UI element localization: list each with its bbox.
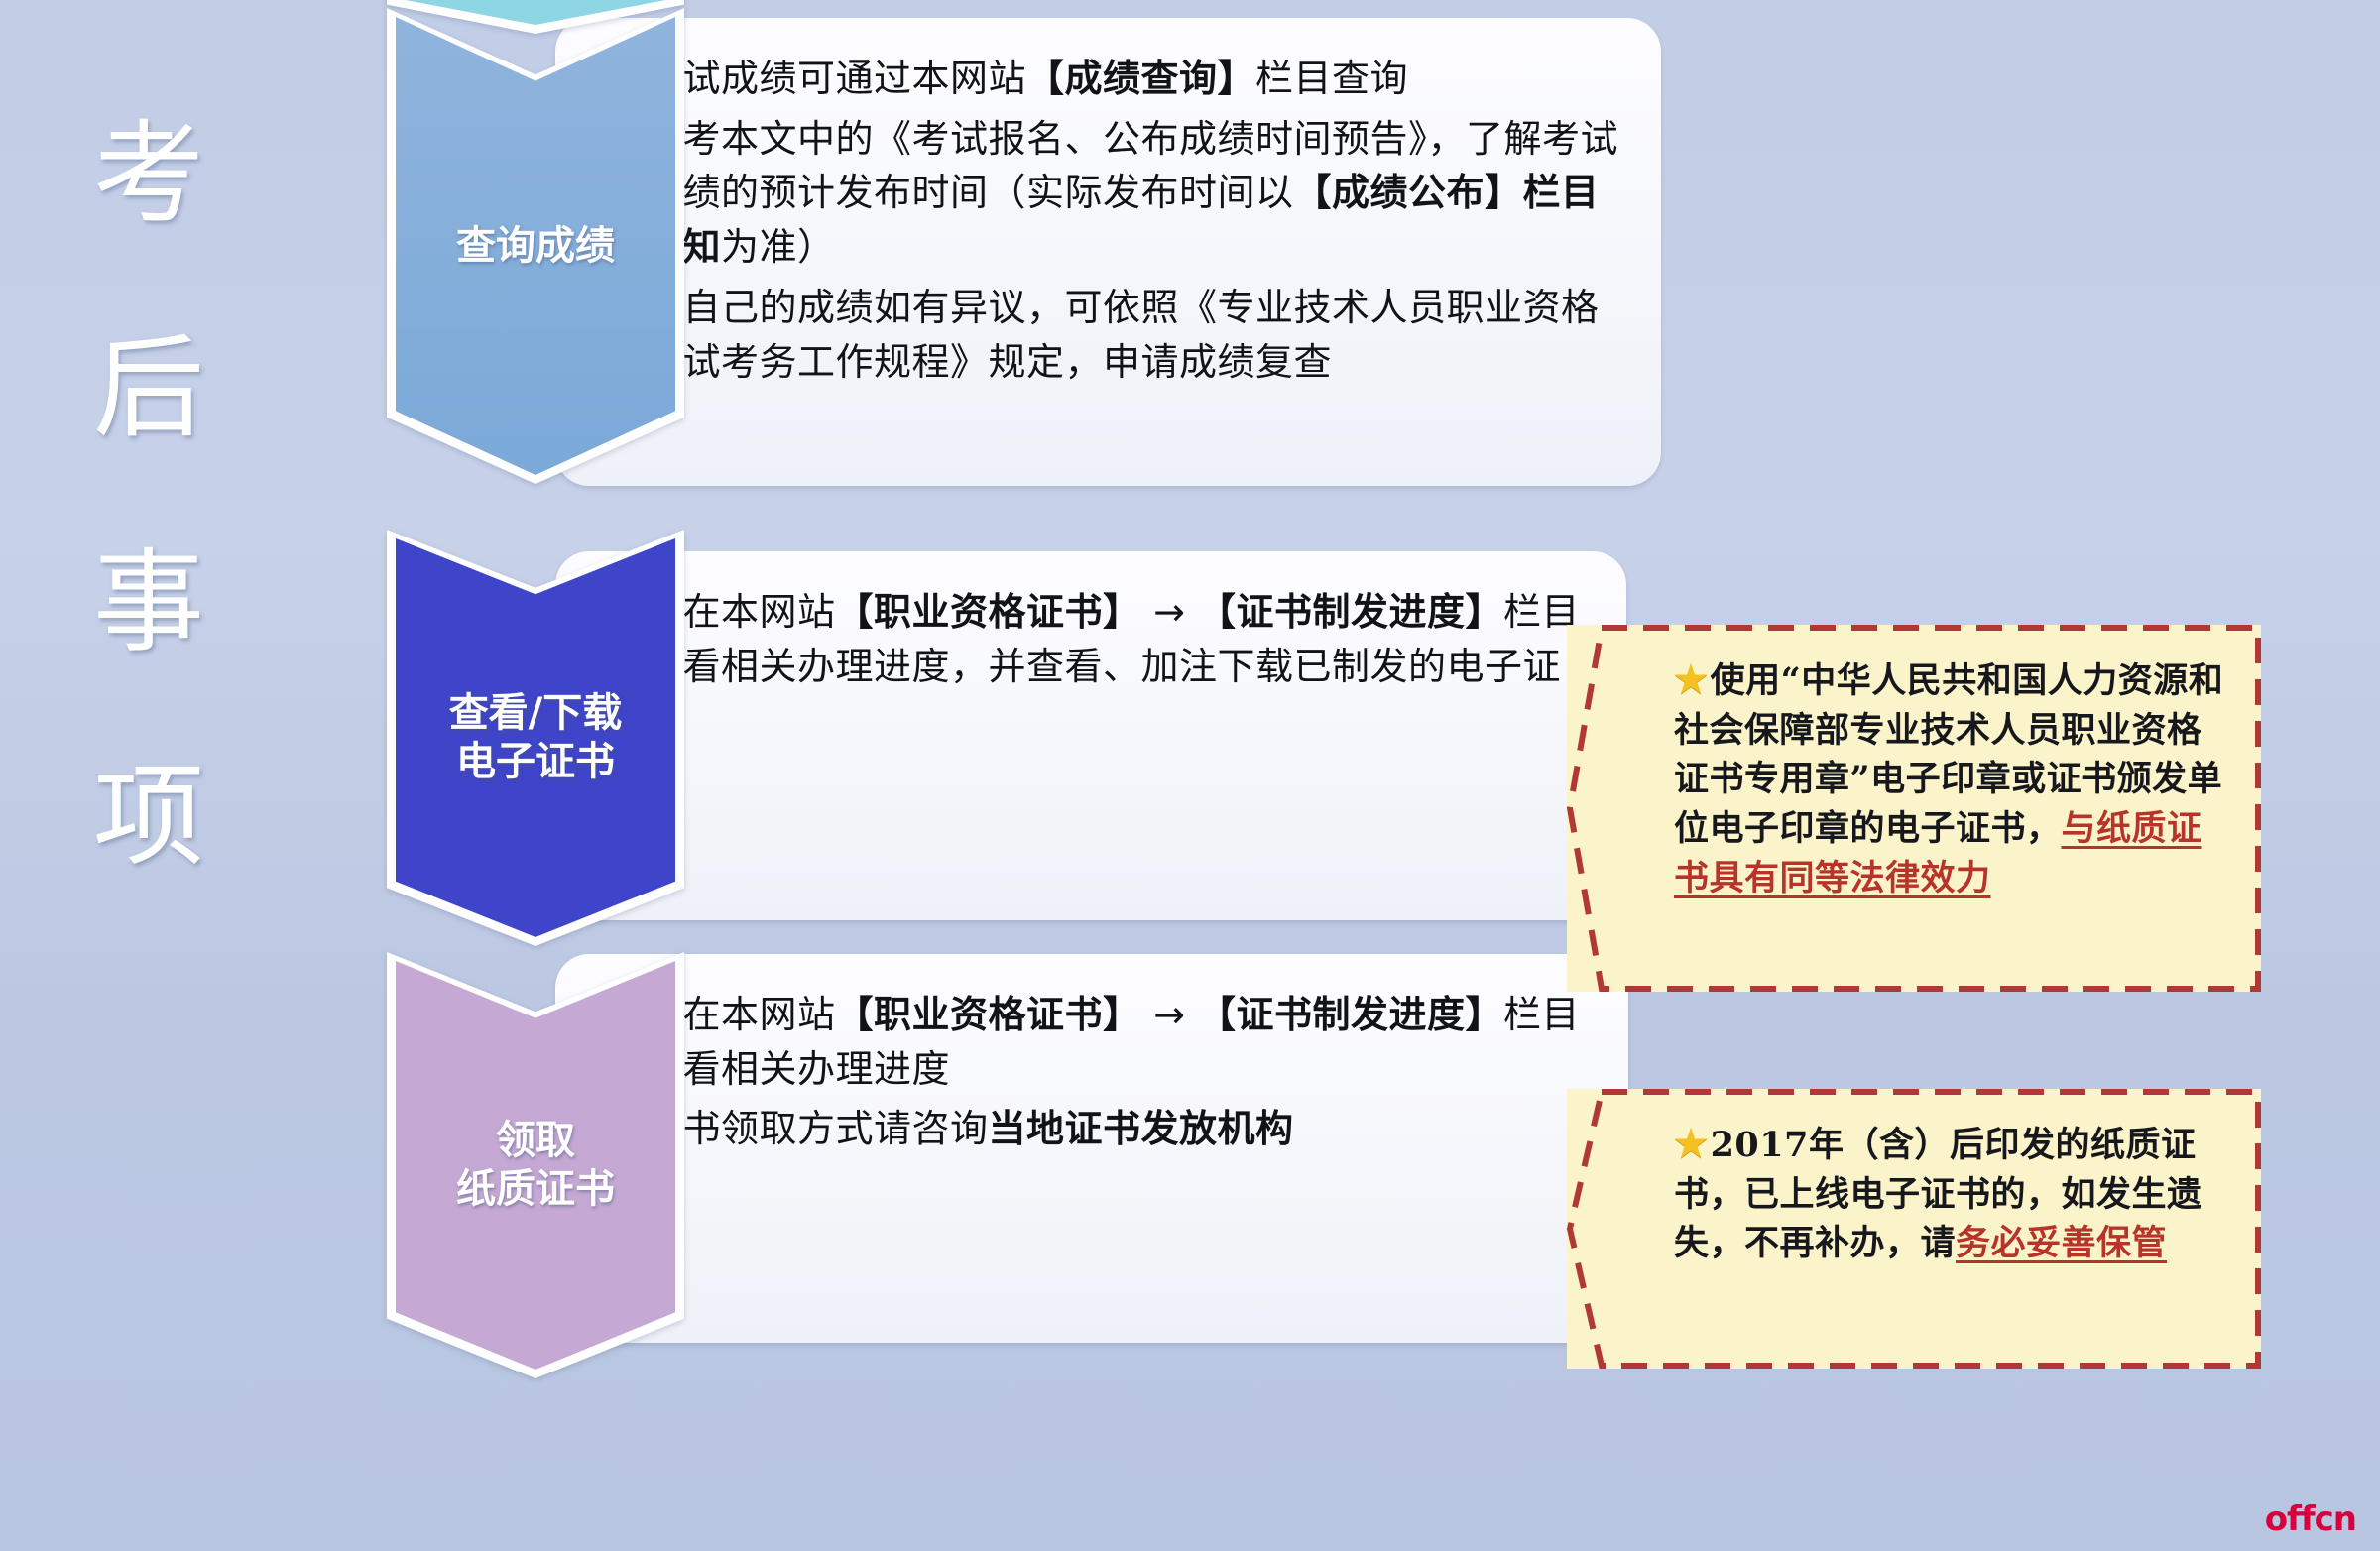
side-label-char-3: 事 <box>93 547 204 658</box>
callout-text: ★使用“中华人民共和国人力资源和社会保障部专业技术人员职业资格证书专用章”电子印… <box>1567 625 2261 930</box>
bullet-emphasis: 当地证书发放机构 <box>989 1107 1294 1150</box>
bullet-text: 考试成绩可通过本网站 <box>645 57 1026 100</box>
bullet-text: → <box>1141 590 1199 634</box>
callout-ecert-legal-effect: ★使用“中华人民共和国人力资源和社会保障部专业技术人员职业资格证书专用章”电子印… <box>1567 625 2261 992</box>
chevron-collect-paper-cert[interactable]: 领取 纸质证书 <box>387 952 684 1378</box>
chevron-label-collect-paper-cert: 领取 纸质证书 <box>456 1117 615 1214</box>
bullet-list-check-score: 考试成绩可通过本网站【成绩查询】栏目查询参考本文中的《考试报名、公布成绩时间预告… <box>599 52 1621 389</box>
star-icon: ★ <box>1674 656 1709 701</box>
content-panel-collect-paper-cert: 可在本网站【职业资格证书】 → 【证书制发进度】栏目查看相关办理进度证书领取方式… <box>555 954 1628 1343</box>
callout-paper-cert-no-reissue: ★2017年（含）后印发的纸质证书，已上线电子证书的，如发生遗失，不再补办，请务… <box>1567 1089 2261 1369</box>
bullet-item: 可在本网站【职业资格证书】 → 【证书制发进度】栏目查看相关办理进度 <box>599 988 1589 1096</box>
chevron-view-download-ecert[interactable]: 查看/下载 电子证书 <box>387 530 684 946</box>
bullet-emphasis: 【证书制发进度】 <box>1198 993 1503 1036</box>
infographic-page: 考 后 事 项 查询成绩 查看/下载 电子证书 领取 纸质证书 考试成绩可通过本… <box>0 0 2380 1551</box>
side-label-char-1: 考 <box>93 119 204 230</box>
bullet-list-view-download-ecert: 可在本网站【职业资格证书】 → 【证书制发进度】栏目查看相关办理进度，并查看、加… <box>599 585 1587 748</box>
content-panel-check-score: 考试成绩可通过本网站【成绩查询】栏目查询参考本文中的《考试报名、公布成绩时间预告… <box>555 18 1661 486</box>
bullet-text: 为准） <box>721 225 836 269</box>
bullet-item: 参考本文中的《考试报名、公布成绩时间预告》，了解考试成绩的预计发布时间（实际发布… <box>599 112 1621 275</box>
side-label-char-4: 项 <box>93 762 204 873</box>
callout-text: ★2017年（含）后印发的纸质证书，已上线电子证书的，如发生遗失，不再补办，请务… <box>1567 1089 2261 1296</box>
bullet-text: → <box>1141 993 1199 1036</box>
bullet-item: 证书领取方式请咨询当地证书发放机构 <box>599 1102 1589 1156</box>
bullet-text: 栏目查询 <box>1255 57 1408 100</box>
callout-highlight: 务必妥善保管 <box>1956 1223 2167 1263</box>
bullet-emphasis: 【成绩查询】 <box>1026 57 1255 100</box>
bullet-emphasis: 【证书制发进度】 <box>1198 590 1503 634</box>
side-label-char-2: 后 <box>93 333 204 444</box>
bullet-item: 对自己的成绩如有异议，可依照《专业技术人员职业资格考试考务工作规程》规定，申请成… <box>599 281 1621 389</box>
bullet-item: 可在本网站【职业资格证书】 → 【证书制发进度】栏目查看相关办理进度，并查看、加… <box>599 585 1587 748</box>
bullet-emphasis: 【职业资格证书】 <box>836 993 1141 1036</box>
side-label-column: 考 后 事 项 <box>59 119 238 873</box>
bullet-text: 对自己的成绩如有异议，可依照《专业技术人员职业资格考试考务工作规程》规定，申请成… <box>645 286 1600 384</box>
bullet-text: 证书领取方式请咨询 <box>645 1107 989 1150</box>
bullet-item: 考试成绩可通过本网站【成绩查询】栏目查询 <box>599 52 1621 106</box>
bullet-list-collect-paper-cert: 可在本网站【职业资格证书】 → 【证书制发进度】栏目查看相关办理进度证书领取方式… <box>599 988 1589 1156</box>
content-panel-view-download-ecert: 可在本网站【职业资格证书】 → 【证书制发进度】栏目查看相关办理进度，并查看、加… <box>555 551 1626 920</box>
star-icon: ★ <box>1674 1121 1709 1165</box>
watermark-offcn: offcn <box>2265 1499 2356 1539</box>
chevron-check-score[interactable]: 查询成绩 <box>387 8 684 484</box>
chevron-label-view-download-ecert: 查看/下载 电子证书 <box>449 689 623 786</box>
chevron-label-check-score: 查询成绩 <box>456 222 615 271</box>
bullet-emphasis: 【职业资格证书】 <box>836 590 1141 634</box>
